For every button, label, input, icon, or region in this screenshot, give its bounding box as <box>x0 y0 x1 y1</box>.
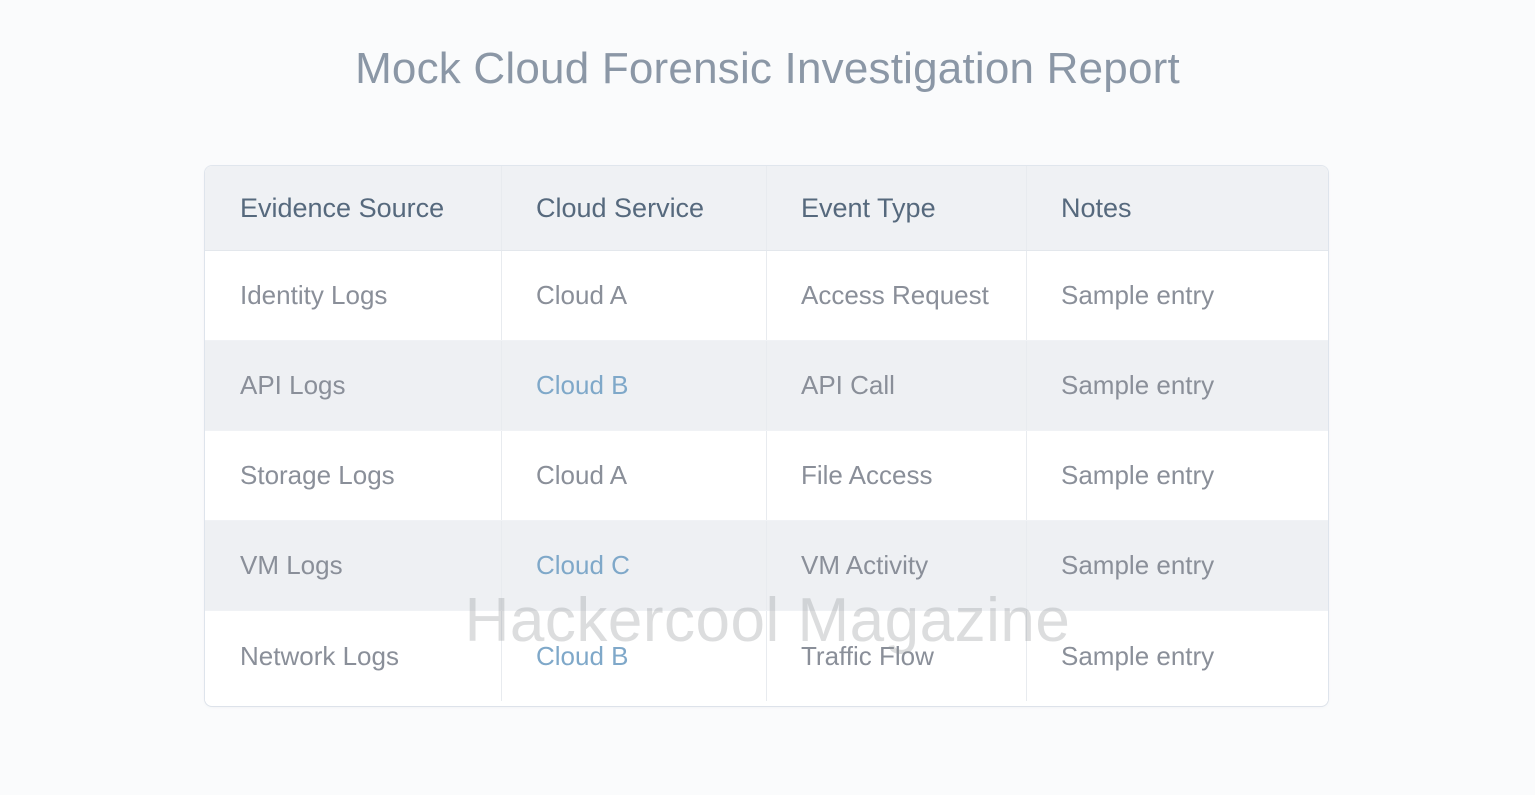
cell-cloud-service: Cloud B <box>501 611 766 701</box>
cell-evidence-source: VM Logs <box>205 521 501 610</box>
table-row: Identity LogsCloud AAccess RequestSample… <box>205 251 1328 341</box>
cell-event-type: VM Activity <box>766 521 1026 610</box>
cell-evidence-source: Identity Logs <box>205 251 501 340</box>
cell-notes: Sample entry <box>1026 611 1328 701</box>
column-header-event-type: Event Type <box>766 166 1026 250</box>
cell-event-type: Traffic Flow <box>766 611 1026 701</box>
column-header-notes: Notes <box>1026 166 1328 250</box>
cell-notes: Sample entry <box>1026 521 1328 610</box>
column-header-evidence-source: Evidence Source <box>205 166 501 250</box>
cell-notes: Sample entry <box>1026 431 1328 520</box>
table-body: Identity LogsCloud AAccess RequestSample… <box>205 251 1328 701</box>
column-header-cloud-service: Cloud Service <box>501 166 766 250</box>
cell-evidence-source: Storage Logs <box>205 431 501 520</box>
table-row: VM LogsCloud CVM ActivitySample entry <box>205 521 1328 611</box>
cell-event-type: File Access <box>766 431 1026 520</box>
cell-notes: Sample entry <box>1026 341 1328 430</box>
cell-evidence-source: API Logs <box>205 341 501 430</box>
table-header-row: Evidence Source Cloud Service Event Type… <box>205 166 1328 251</box>
table-row: Storage LogsCloud AFile AccessSample ent… <box>205 431 1328 521</box>
cell-evidence-source: Network Logs <box>205 611 501 701</box>
table-row: API LogsCloud BAPI CallSample entry <box>205 341 1328 431</box>
page-title: Mock Cloud Forensic Investigation Report <box>0 44 1535 94</box>
cell-cloud-service: Cloud C <box>501 521 766 610</box>
cell-event-type: Access Request <box>766 251 1026 340</box>
cell-event-type: API Call <box>766 341 1026 430</box>
cell-cloud-service: Cloud A <box>501 431 766 520</box>
table-row: Network LogsCloud BTraffic FlowSample en… <box>205 611 1328 701</box>
cell-cloud-service: Cloud A <box>501 251 766 340</box>
cell-cloud-service: Cloud B <box>501 341 766 430</box>
cell-notes: Sample entry <box>1026 251 1328 340</box>
forensic-report-table: Evidence Source Cloud Service Event Type… <box>205 166 1328 706</box>
